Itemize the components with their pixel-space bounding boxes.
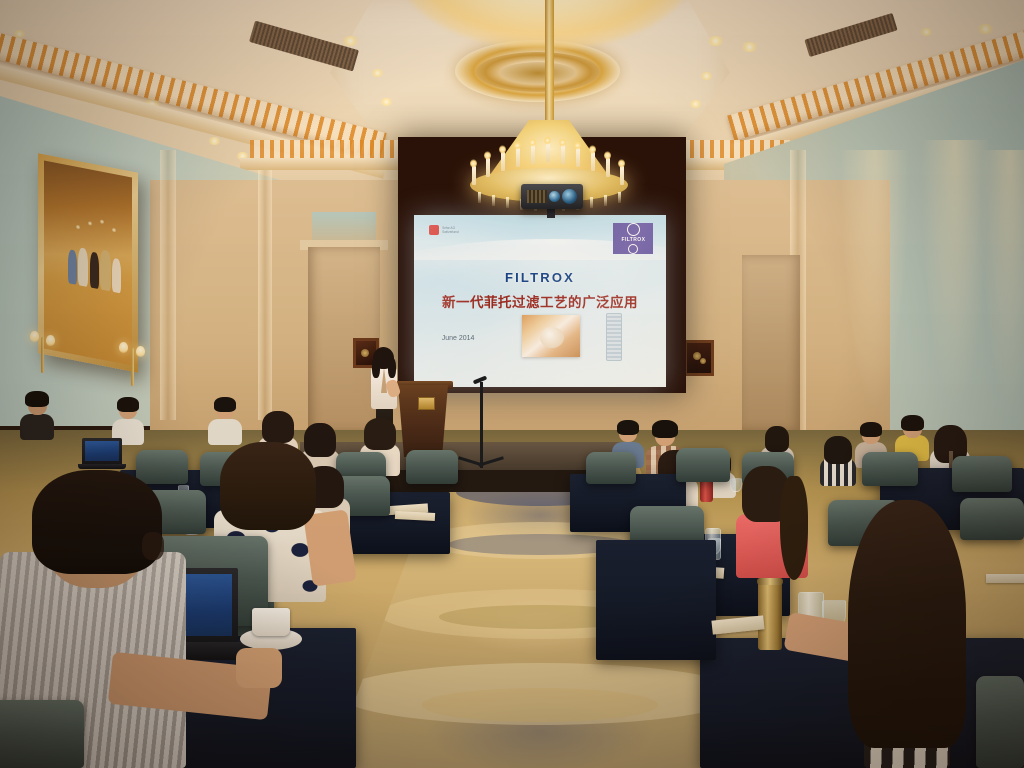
wall-sconce-right bbox=[116, 336, 148, 388]
conference-room-photo: Sefar AG Switzerland FILTROX FILTROX 新一代… bbox=[0, 0, 1024, 768]
projector-vent-icon bbox=[527, 190, 547, 203]
chair-foreground-empty bbox=[0, 700, 84, 768]
pilaster-left-2 bbox=[258, 170, 272, 420]
projection-screen: Sefar AG Switzerland FILTROX FILTROX 新一代… bbox=[414, 215, 666, 387]
person-woman-striped-right bbox=[808, 500, 1008, 768]
downlight-icon bbox=[741, 42, 758, 52]
pilaster-left bbox=[160, 150, 176, 420]
chair-back-right bbox=[862, 452, 918, 486]
presenter-hair-right bbox=[388, 358, 396, 378]
downlight-icon bbox=[977, 24, 994, 34]
person-man-blue-left bbox=[208, 400, 242, 444]
framed-painting-small-right bbox=[684, 340, 714, 376]
person-woman-striped-back bbox=[820, 438, 856, 486]
wall-sconce-left bbox=[28, 325, 58, 375]
doorway-right bbox=[742, 255, 800, 430]
door-transom bbox=[312, 212, 376, 242]
downlight-icon bbox=[707, 36, 724, 46]
chair-mid-left-4 bbox=[406, 450, 458, 484]
lectern-plaque bbox=[418, 397, 435, 410]
person-back-left-4 bbox=[20, 395, 54, 439]
downlight-icon bbox=[371, 69, 384, 77]
laptop-screen-mid-left bbox=[85, 441, 119, 461]
downlight-icon bbox=[689, 100, 702, 108]
screen-glare bbox=[414, 215, 666, 387]
chair-mid-right-2 bbox=[676, 448, 730, 482]
downlight-icon bbox=[380, 98, 393, 106]
downlight-icon bbox=[342, 36, 359, 46]
downlight-icon bbox=[700, 72, 713, 80]
projector bbox=[521, 184, 583, 209]
presenter-hair-left bbox=[372, 358, 380, 378]
chair-mid-right bbox=[586, 452, 636, 484]
microphone-stand bbox=[480, 382, 483, 468]
downlight-icon bbox=[208, 137, 221, 145]
thermos-cap bbox=[757, 578, 783, 585]
person-woman-coral-right bbox=[736, 470, 808, 578]
downlight-icon bbox=[920, 28, 933, 36]
lectern bbox=[398, 385, 448, 457]
table-front-right-riser bbox=[596, 540, 716, 660]
chair-back-right-2 bbox=[952, 456, 1012, 492]
ceiling-medallion-ring3-icon bbox=[500, 62, 576, 84]
man-front-hand bbox=[236, 648, 282, 688]
projector-lens-secondary-icon bbox=[549, 191, 560, 202]
wall-light-wash bbox=[840, 150, 910, 410]
projector-lens-icon bbox=[562, 189, 577, 204]
wall-light-wash-3 bbox=[980, 150, 1024, 410]
man-front-ear-hair bbox=[142, 532, 164, 560]
laptop-base-mid-left bbox=[78, 464, 126, 469]
